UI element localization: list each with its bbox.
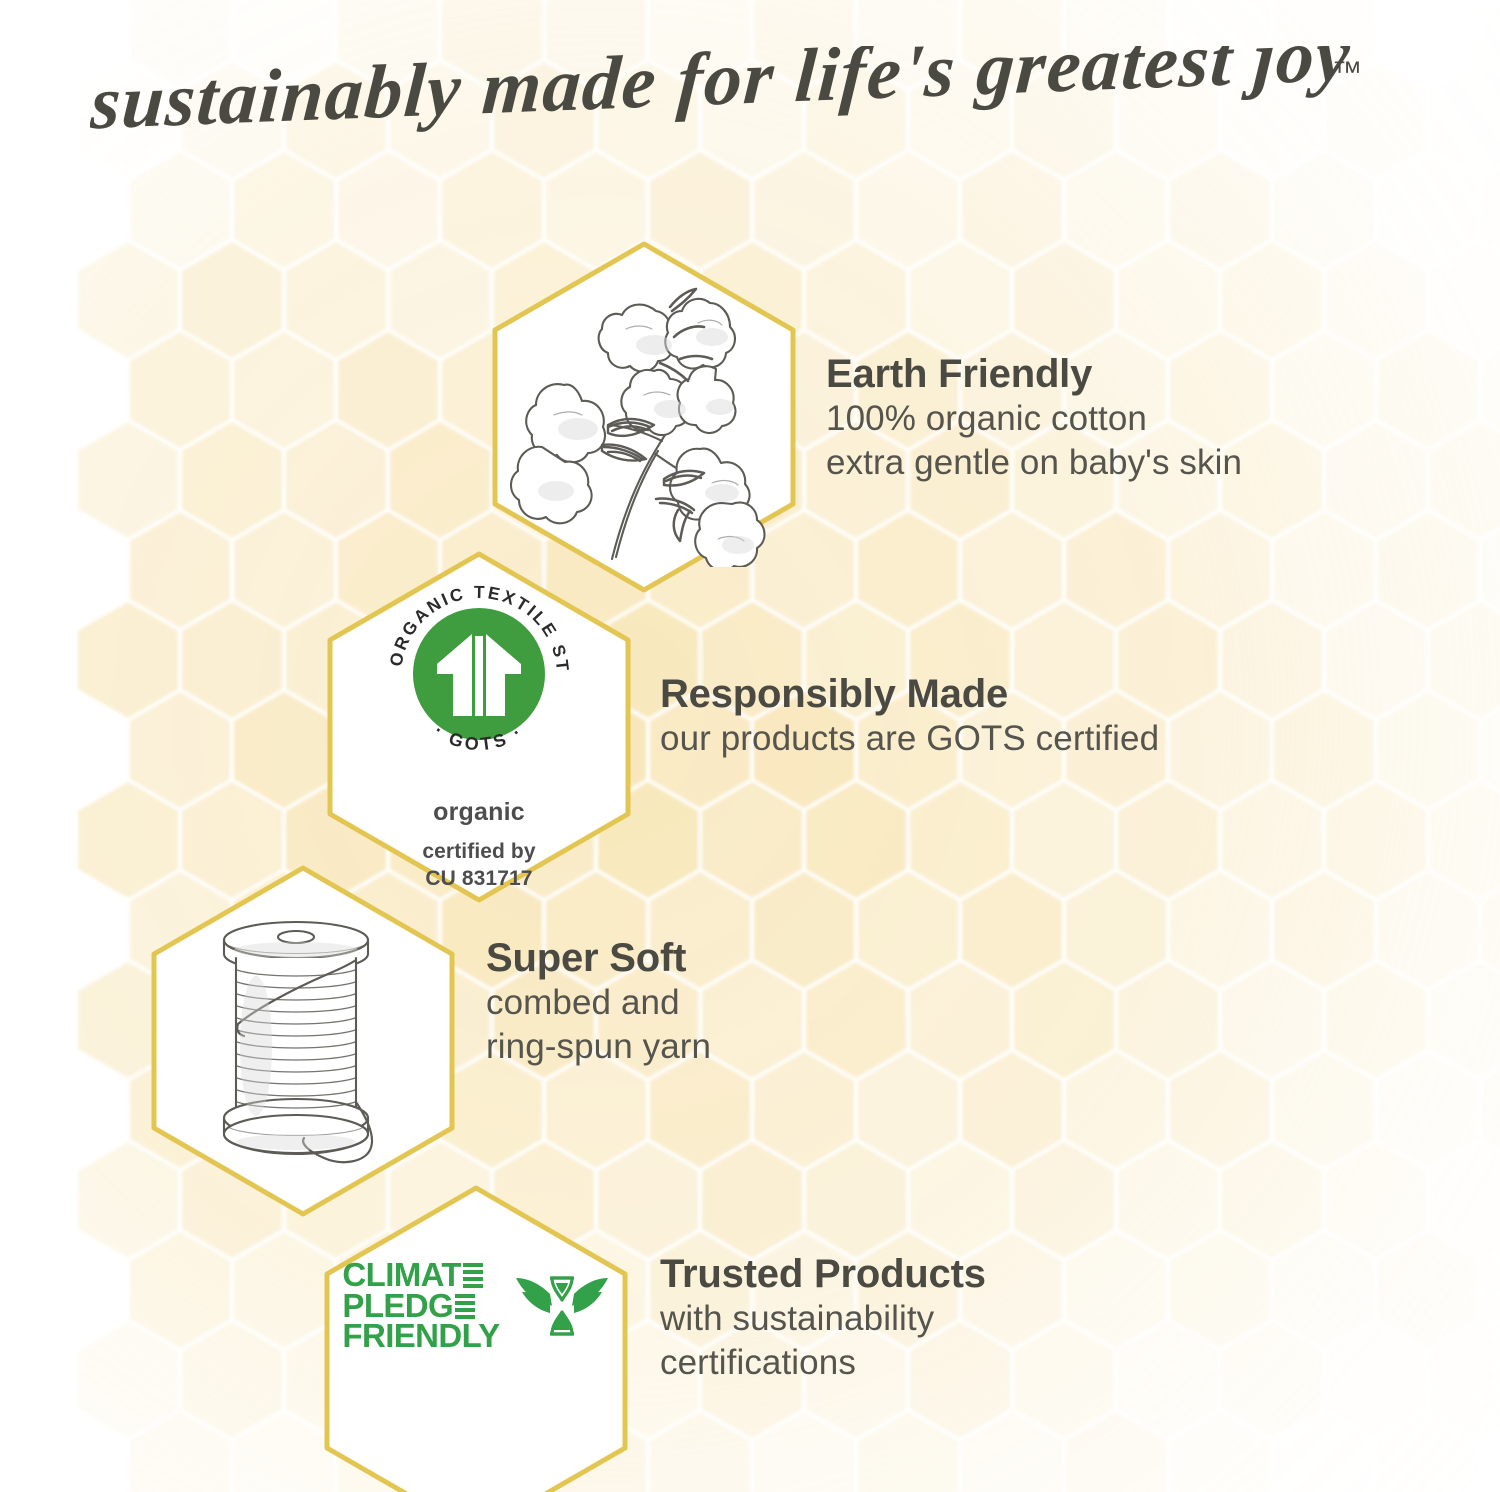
feature-desc-line-1: combed and: [486, 981, 711, 1025]
feature-title: Trusted Products: [660, 1252, 986, 1297]
feature-desc-line-2: certifications: [660, 1341, 986, 1385]
headline-trademark: ™: [1332, 56, 1362, 89]
climate-pledge-wordmark: CLIMAT PLEDG: [342, 1260, 499, 1352]
feature-text-trusted-products: Trusted Products with sustainability cer…: [660, 1252, 986, 1385]
headline-script-text: sustainably made for life's greatest joy…: [90, 46, 1410, 158]
feature-hexagon-responsibly-made: GLOBAL ORGANIC TEXTILE STANDARD · GOTS ·…: [318, 548, 640, 906]
feature-title: Responsibly Made: [660, 672, 1159, 717]
feature-text-earth-friendly: Earth Friendly 100% organic cotton extra…: [826, 352, 1242, 485]
feature-desc-line-1: with sustainability: [660, 1297, 986, 1341]
feature-hexagon-earth-friendly: [483, 238, 805, 596]
gots-seal-icon: GLOBAL ORGANIC TEXTILE STANDARD · GOTS ·: [371, 566, 587, 782]
feature-title: Super Soft: [486, 936, 711, 981]
feature-desc-line-2: ring-spun yarn: [486, 1025, 711, 1069]
gots-caption-organic: organic: [433, 798, 525, 827]
feature-hexagon-trusted-products: CLIMAT PLEDG: [315, 1182, 637, 1492]
feature-title: Earth Friendly: [826, 352, 1242, 397]
climate-pledge-friendly-icon: CLIMAT PLEDG: [342, 1260, 609, 1352]
cpf-striped-e-icon-2: [454, 1293, 476, 1319]
feature-text-responsibly-made: Responsibly Made our products are GOTS c…: [660, 672, 1159, 761]
cotton-branch-icon: [504, 267, 784, 567]
cpf-line-friendly: FRIENDLY: [342, 1321, 499, 1352]
sustainability-infographic: sustainably made for life's greatest joy…: [0, 0, 1500, 1492]
thread-spool-icon: [178, 906, 428, 1176]
cpf-striped-e-icon-1: [462, 1262, 484, 1288]
feature-hexagon-super-soft: [142, 862, 464, 1220]
feature-desc-line-1: our products are GOTS certified: [660, 717, 1159, 761]
headline-text: sustainably made for life's greatest joy: [90, 46, 1354, 145]
feature-desc-line-2: extra gentle on baby's skin: [826, 441, 1242, 485]
feature-desc-line-1: 100% organic cotton: [826, 397, 1242, 441]
winged-hourglass-icon: [514, 1268, 610, 1344]
gots-certification-icon: GLOBAL ORGANIC TEXTILE STANDARD · GOTS ·…: [371, 562, 587, 893]
page-headline: sustainably made for life's greatest joy…: [0, 46, 1500, 156]
feature-text-super-soft: Super Soft combed and ring-spun yarn: [486, 936, 711, 1069]
